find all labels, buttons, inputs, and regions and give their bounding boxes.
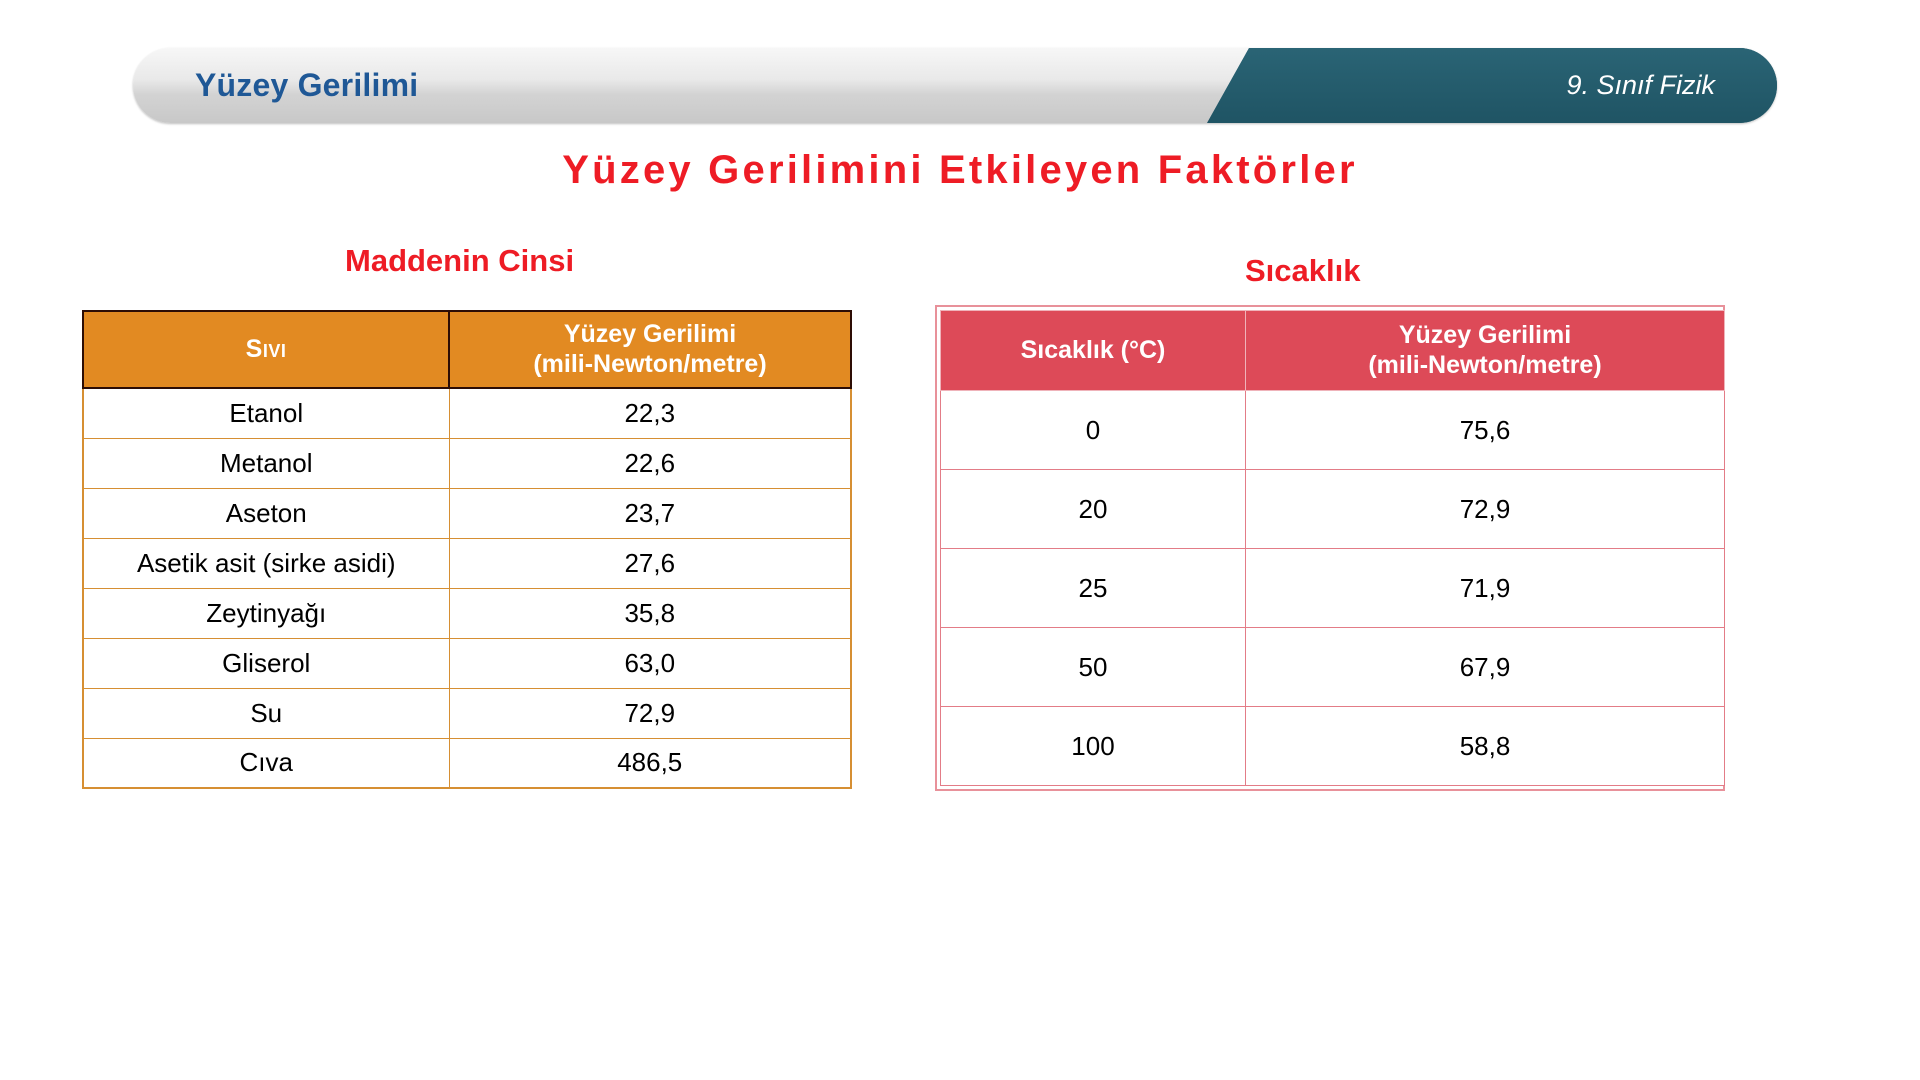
table-row: 100 58,8 (941, 707, 1725, 786)
section-heading-temperature: Sıcaklık (1245, 253, 1360, 289)
cell-substance: Cıva (83, 738, 449, 788)
cell-temperature: 50 (941, 628, 1246, 707)
column-header-liquid: Sıvı (83, 311, 449, 388)
cell-tension: 72,9 (449, 688, 851, 738)
table-row: Etanol 22,3 (83, 388, 851, 438)
table-temperature-frame: Sıcaklık (°C) Yüzey Gerilimi (mili-Newto… (935, 305, 1725, 791)
banner-title: Yüzey Gerilimi (195, 48, 418, 123)
column-header-line1: Yüzey Gerilimi (1252, 321, 1718, 351)
cell-substance: Aseton (83, 488, 449, 538)
table-temperature-body: 0 75,6 20 72,9 25 71,9 50 67,9 100 58, (941, 391, 1725, 786)
page-title: Yüzey Gerilimini Etkileyen Faktörler (0, 148, 1920, 193)
cell-substance: Etanol (83, 388, 449, 438)
cell-tension: 27,6 (449, 538, 851, 588)
column-header-surface-tension: Yüzey Gerilimi (mili-Newton/metre) (449, 311, 851, 388)
cell-tension: 23,7 (449, 488, 851, 538)
cell-temperature: 100 (941, 707, 1246, 786)
cell-tension: 58,8 (1246, 707, 1725, 786)
header-banner: Yüzey Gerilimi 9. Sınıf Fizik (133, 48, 1777, 123)
column-header-line2: (mili-Newton/metre) (456, 350, 844, 380)
table-substance-body: Etanol 22,3 Metanol 22,6 Aseton 23,7 Ase… (83, 388, 851, 788)
cell-tension: 35,8 (449, 588, 851, 638)
cell-tension: 22,6 (449, 438, 851, 488)
cell-tension: 75,6 (1246, 391, 1725, 470)
table-row: Gliserol 63,0 (83, 638, 851, 688)
table-row: Asetik asit (sirke asidi) 27,6 (83, 538, 851, 588)
cell-tension: 72,9 (1246, 470, 1725, 549)
table-row: 20 72,9 (941, 470, 1725, 549)
table-header-row: Sıvı Yüzey Gerilimi (mili-Newton/metre) (83, 311, 851, 388)
banner-subtitle: 9. Sınıf Fizik (1566, 48, 1715, 123)
section-heading-substance: Maddenin Cinsi (345, 243, 574, 279)
table-row: 0 75,6 (941, 391, 1725, 470)
table-header-row: Sıcaklık (°C) Yüzey Gerilimi (mili-Newto… (941, 311, 1725, 391)
table-row: Su 72,9 (83, 688, 851, 738)
slide-canvas: Yüzey Gerilimi 9. Sınıf Fizik Yüzey Geri… (0, 0, 1920, 1080)
cell-temperature: 25 (941, 549, 1246, 628)
cell-tension: 71,9 (1246, 549, 1725, 628)
cell-tension: 486,5 (449, 738, 851, 788)
table-row: Zeytinyağı 35,8 (83, 588, 851, 638)
column-header-temperature: Sıcaklık (°C) (941, 311, 1246, 391)
table-substance: Sıvı Yüzey Gerilimi (mili-Newton/metre) … (82, 310, 852, 789)
cell-substance: Zeytinyağı (83, 588, 449, 638)
cell-substance: Asetik asit (sirke asidi) (83, 538, 449, 588)
cell-substance: Metanol (83, 438, 449, 488)
table-row: 25 71,9 (941, 549, 1725, 628)
table-temperature: Sıcaklık (°C) Yüzey Gerilimi (mili-Newto… (940, 310, 1725, 786)
cell-substance: Gliserol (83, 638, 449, 688)
cell-tension: 67,9 (1246, 628, 1725, 707)
column-header-line1: Yüzey Gerilimi (456, 320, 844, 350)
table-row: Cıva 486,5 (83, 738, 851, 788)
column-header-line2: (mili-Newton/metre) (1252, 351, 1718, 381)
table-row: Aseton 23,7 (83, 488, 851, 538)
cell-tension: 63,0 (449, 638, 851, 688)
cell-tension: 22,3 (449, 388, 851, 438)
cell-temperature: 20 (941, 470, 1246, 549)
column-header-surface-tension: Yüzey Gerilimi (mili-Newton/metre) (1246, 311, 1725, 391)
table-row: Metanol 22,6 (83, 438, 851, 488)
table-row: 50 67,9 (941, 628, 1725, 707)
cell-temperature: 0 (941, 391, 1246, 470)
cell-substance: Su (83, 688, 449, 738)
